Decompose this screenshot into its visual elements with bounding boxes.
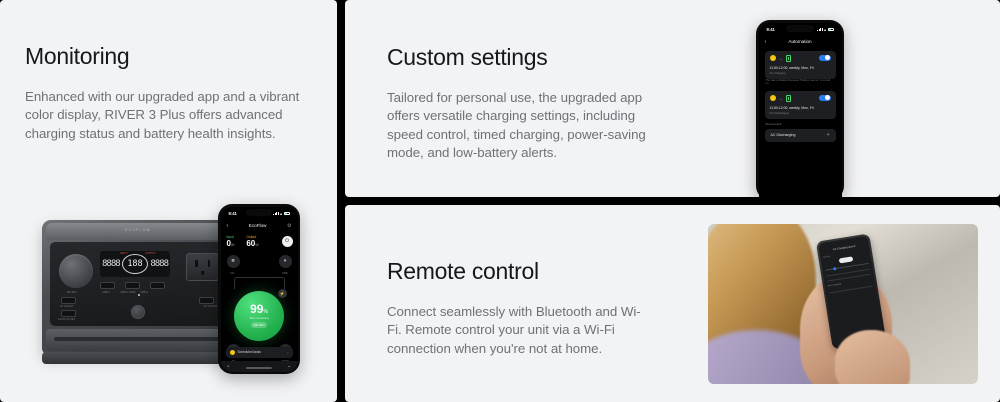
status-indicator-dots <box>100 237 117 239</box>
wifi-icon: ▴ <box>280 212 282 216</box>
clock-icon <box>770 95 776 101</box>
dc-output-knob-label: DC12V <box>67 290 77 294</box>
signal-icon <box>273 212 278 216</box>
ac-wall-outlet <box>186 253 219 281</box>
photo-phone-row-3 <box>829 285 873 293</box>
panel-remote-control: Remote control Connect seamlessly with B… <box>345 205 1000 402</box>
dc-port-tile[interactable]: ■ <box>227 255 240 268</box>
battery-level-circle: 99% Time remaining 20h 34m <box>234 291 284 341</box>
battery-icon <box>786 95 791 102</box>
dc-port-left-2-label: LIGHT OUTLET <box>58 318 75 321</box>
power-toggle-icon[interactable]: ⏻ <box>282 236 293 247</box>
dc-port-tile-label: DC <box>231 271 235 275</box>
dc-port-right-1-label: AC OUTLET <box>204 305 217 308</box>
scheduled-tasks-label: Scheduled tasks <box>238 350 285 354</box>
monitoring-phone-mockup: 9:41 ▴ ‹ EcoFlow ⚙ <box>218 204 300 374</box>
wifi-icon: ▴ <box>824 28 826 32</box>
photo-hand-lower <box>835 330 911 384</box>
phone-tab-bar[interactable]: ■ ☁ <box>221 361 298 372</box>
remote-control-photo: AC Charging speed Current With Charging <box>708 224 978 384</box>
automation-rule-card[interactable]: → 11:50-12:00, weekly, Mon, Fri AC Charg… <box>765 51 836 80</box>
monitoring-description: Enhanced with our upgraded app and a vib… <box>25 88 321 143</box>
input-value: 0W <box>227 240 235 248</box>
panel-custom-settings: Custom settings Tailored for personal us… <box>345 0 1000 197</box>
clock-icon <box>230 350 235 355</box>
rule-schedule-text: 11:50-12:00, weekly, Mon, Fri <box>770 66 831 70</box>
rule-toggle-switch[interactable] <box>819 95 831 102</box>
automation-header: ‹ Automation <box>759 37 842 47</box>
rule-mode-text: DC Discharging <box>770 111 831 115</box>
battery-icon <box>284 212 290 215</box>
phone-notch <box>786 25 814 32</box>
station-brand-label: ECOFLOW <box>125 228 151 232</box>
output-stat: Output 60W <box>246 235 258 248</box>
page-root: Monitoring Enhanced with our upgraded ap… <box>0 0 1000 402</box>
dc-output-knob <box>59 254 93 288</box>
usb-a-port-2-label: USB-A <box>140 291 148 294</box>
usb-port-row <box>100 282 165 289</box>
usb-a-port-2 <box>150 282 165 289</box>
battery-time-chip: 20h 34m <box>251 322 268 328</box>
gear-icon[interactable]: ⚙ <box>287 223 291 229</box>
status-bar-indicators: ▴ <box>817 28 833 32</box>
battery-icon <box>828 28 834 31</box>
plus-icon[interactable]: + <box>827 132 830 138</box>
automation-phone-screen: 9:41 ▴ ‹ Automation <box>759 23 842 198</box>
station-front-panel: DC12V INPUT OUTPUT 8888 188 8888 <box>50 242 226 326</box>
center-led-indicator <box>138 294 140 296</box>
lcd-output-tag: OUTPUT <box>145 252 156 255</box>
device-lcd-screen: INPUT OUTPUT 8888 188 8888 <box>100 251 170 277</box>
monitoring-hero-image: ECOFLOW DC12V INPUT OUTPUT 8888 188 8888 <box>28 196 328 386</box>
usb-c-port-label: USB-C 100W <box>120 291 136 294</box>
back-icon[interactable]: ‹ <box>227 223 229 229</box>
rule-disabled-note: The task is disabled because "Backup res… <box>766 79 835 86</box>
home-indicator <box>246 367 272 369</box>
rule-schedule-text: 11:50-12:00, weekly, Mon, Fri <box>770 106 831 110</box>
recommend-section-label: Recommend <box>766 122 782 126</box>
custom-settings-description: Tailored for personal use, the upgraded … <box>387 89 649 162</box>
dc-port-left-1-label: AC OUTLET <box>60 305 73 308</box>
app-header: ‹ EcoFlow ⚙ <box>221 221 298 231</box>
flow-connector-graphic <box>234 277 285 289</box>
station-base <box>46 329 230 351</box>
signal-icon <box>817 28 822 32</box>
scheduled-tasks-row[interactable]: Scheduled tasks › <box>226 347 293 358</box>
dc-port-left-1 <box>61 297 76 304</box>
usb-a-port-1 <box>100 282 115 289</box>
automation-phone-mockup: 9:41 ▴ ‹ Automation <box>756 20 844 197</box>
custom-settings-title: Custom settings <box>387 44 547 71</box>
station-top-handle: ECOFLOW <box>46 223 230 240</box>
output-value: 60W <box>246 240 258 248</box>
rule-mode-text: AC Charging <box>770 71 831 75</box>
usb-port-tile-label: USB <box>282 271 288 275</box>
battery-percent-value: 99% <box>250 303 268 315</box>
remote-control-description: Connect seamlessly with Bluetooth and Wi… <box>387 303 649 358</box>
recommend-item-row[interactable]: AC Discharging + <box>765 129 836 142</box>
dc-port-left-2 <box>61 310 76 317</box>
automation-rule-card[interactable]: → 11:50-12:00, weekly, Mon, Fri DC Disch… <box>765 91 836 120</box>
station-foot <box>42 352 234 364</box>
dc-port-right-1 <box>199 297 214 304</box>
phone-notch <box>246 209 272 216</box>
port-tile-row: ■ ● <box>227 255 292 268</box>
photo-phone-value-chip <box>839 256 854 263</box>
status-bar-time: 9:41 <box>229 211 237 216</box>
chevron-right-icon: › <box>287 350 288 355</box>
automation-title: Automation <box>788 39 811 44</box>
battery-icon <box>786 55 791 62</box>
panel-monitoring: Monitoring Enhanced with our upgraded ap… <box>0 0 337 402</box>
clock-icon <box>770 55 776 61</box>
status-bar-time: 9:41 <box>767 27 775 32</box>
battery-health-icon[interactable]: ⚡ <box>278 289 287 298</box>
power-station-device: ECOFLOW DC12V INPUT OUTPUT 8888 188 8888 <box>42 220 234 355</box>
status-bar-indicators: ▴ <box>273 212 289 216</box>
usb-port-tile[interactable]: ● <box>279 255 292 268</box>
app-title: EcoFlow <box>249 223 267 228</box>
page-title: Monitoring <box>25 43 129 70</box>
recommend-item-label: AC Discharging <box>771 133 796 137</box>
tab-cloud[interactable]: ☁ <box>288 364 291 368</box>
lcd-input-value: 8888 <box>102 259 120 269</box>
tab-home[interactable]: ■ <box>228 364 230 368</box>
remote-control-title: Remote control <box>387 258 539 285</box>
lcd-input-tag: INPUT <box>120 252 128 255</box>
back-icon[interactable]: ‹ <box>765 39 767 45</box>
power-button <box>131 305 145 319</box>
lcd-output-value: 8888 <box>150 259 168 269</box>
lcd-battery-value: 188 <box>122 254 148 274</box>
battery-caption: Time remaining <box>249 316 268 320</box>
arrow-right-icon: → <box>779 96 784 101</box>
usb-a-port-1-label: USB-A <box>102 291 110 294</box>
rule-toggle-switch[interactable] <box>819 55 831 62</box>
input-stat: Input 0W <box>227 235 235 248</box>
monitoring-phone-screen: 9:41 ▴ ‹ EcoFlow ⚙ <box>221 207 298 372</box>
usb-c-port <box>125 282 140 289</box>
arrow-right-icon: → <box>779 56 784 61</box>
